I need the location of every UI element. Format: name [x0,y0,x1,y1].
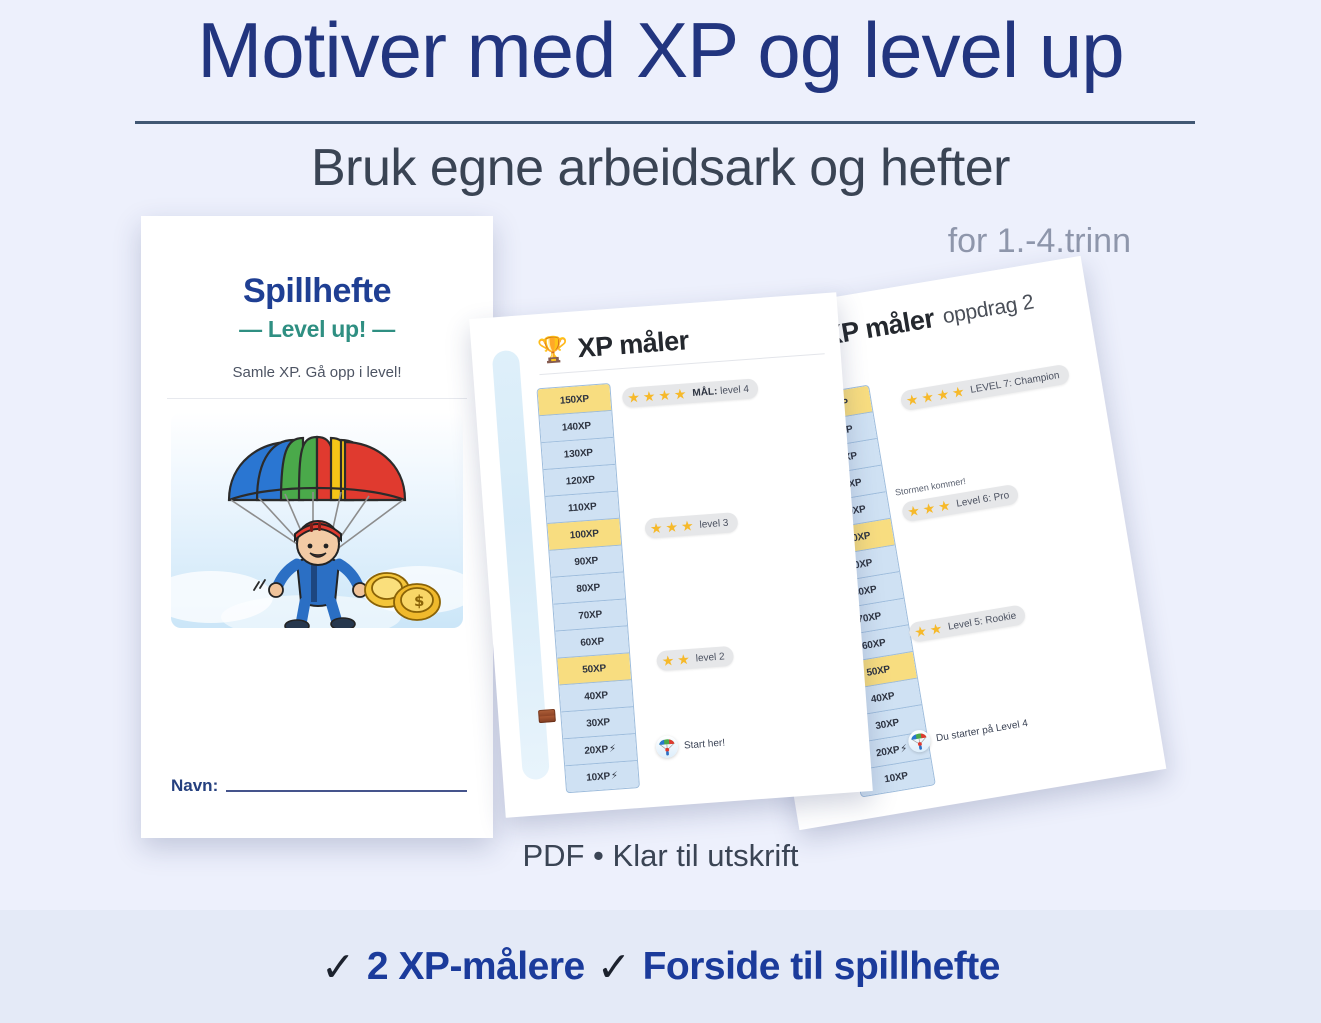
parachute-avatar-icon [655,735,679,759]
name-input-line[interactable] [226,790,467,792]
star-icon: ★ [937,498,952,514]
star-icon: ★ [673,386,687,401]
star-icon: ★ [951,384,966,400]
xp-rung-label: 50XP [582,663,606,676]
star-icon: ★ [913,623,928,639]
start-row: Du starter på Level 4 [907,712,1030,754]
star-icon: ★ [906,503,921,519]
lightning-bolt-icon: ⚡ [900,743,909,755]
star-icon: ★ [905,392,920,408]
xp-meter-sheet-1[interactable]: 🏆 XP måler 150XP140XP130XP120XP110XP100X… [469,292,873,818]
star-icon: ★ [920,389,935,405]
xp-rung-label: 30XP [875,717,900,732]
star-icon: ★ [642,389,656,404]
level-badge: ★★★★MÅL: level 4 [622,378,759,408]
star-icon: ★ [665,519,679,534]
xp-rung-label: 60XP [861,637,886,652]
star-icon: ★ [658,388,672,403]
start-text: Du starter på Level 4 [935,718,1028,744]
xp-rung-label: 110XP [568,501,597,514]
lightning-bolt-icon: ⚡ [609,743,617,754]
start-row: Start her! [655,732,726,759]
page-title: Motiver med XP og level up [0,10,1321,92]
level-badge: ★★★level 3 [644,512,738,539]
check-icon: ✓ [597,943,631,991]
cover-divider [167,398,467,399]
star-icon: ★ [627,390,641,405]
svg-text:$: $ [414,592,424,610]
xp-rung-label: 10XP [884,770,909,785]
pdf-note: PDF • Klar til utskrift [0,838,1321,874]
xp-rung-label: 150XP [559,393,589,406]
xp-rung-label: 10XP [586,771,610,784]
trophy-icon: 🏆 [537,337,570,364]
star-icon: ★ [936,387,951,403]
name-label: Navn: [171,776,218,796]
star-icon: ★ [677,652,691,667]
cover-title: Spillhefte [141,272,493,311]
start-text: Start her! [684,737,726,751]
lightning-bolt-icon: ⚡ [611,770,619,781]
xp-rung-label: 60XP [580,636,604,649]
sheet1-header: 🏆 XP måler [537,315,825,367]
poster-canvas: Motiver med XP og level up Bruk egne arb… [0,0,1321,1023]
level-badge-label: level 3 [699,517,729,530]
level-badge-label: LEVEL 7: Champion [969,370,1060,396]
title-divider [135,121,1195,124]
level-badge-label: level 2 [695,651,725,664]
sheet1-title: XP måler [577,325,690,364]
xp-rung-label: 130XP [563,447,593,460]
star-icon: ★ [929,621,944,637]
feature-bar: ✓ 2 XP-målere ✓ Forside til spillhefte [0,910,1321,1023]
level-badge: ★★Level 5: Rookie [908,604,1027,643]
level-badge-label: MÅL: level 4 [692,383,749,398]
feature-1-label: 2 XP-målere [367,945,585,989]
xp-rung-label: 90XP [574,555,598,568]
sheet2-title-suffix: oppdrag 2 [941,290,1036,329]
xp-rung-label: 40XP [870,690,895,705]
xp-rung-label: 140XP [561,420,591,433]
level-badge-label: Level 6: Pro [956,490,1010,510]
star-icon: ★ [649,521,663,536]
grade-label: for 1.-4.trinn [948,222,1131,261]
treasure-chest-icon [538,709,556,723]
cover-subtitle: — Level up! — [141,316,493,343]
name-field-row[interactable]: Navn: [171,776,467,796]
feature-2-label: Forside til spillhefte [643,945,1000,989]
xp-rung-label: 30XP [586,716,610,729]
star-icon: ★ [661,653,675,668]
xp-rung-label: 50XP [866,664,891,679]
xp-rung-label: 40XP [584,690,608,703]
parachute-avatar-icon [907,728,932,753]
xp-rung-label: 70XP [578,609,602,622]
page-subtitle: Bruk egne arbeidsark og hefter [0,140,1321,197]
level-badge-label: Level 5: Rookie [947,610,1017,632]
xp-rung[interactable]: 10XP⚡ [565,761,639,792]
xp-rung-label: 20XP [584,744,608,757]
xp-rung-label: 120XP [565,474,595,487]
xp-rung-label: 100XP [569,528,599,541]
xp-rung-label: 80XP [576,582,600,595]
xp-rung-label: 20XP [875,744,900,759]
level-badge: ★★★★LEVEL 7: Champion [899,364,1069,412]
cover-sheet[interactable]: Spillhefte — Level up! — Samle XP. Gå op… [141,216,493,838]
parachute-kid-with-coins-icon: $ [171,412,463,628]
star-icon: ★ [922,500,937,516]
xp-ladder[interactable]: 150XP140XP130XP120XP110XP100XP90XP80XP70… [536,383,640,793]
check-icon: ✓ [321,943,355,991]
cover-tagline: Samle XP. Gå opp i level! [141,364,493,381]
level-badge: ★★level 2 [656,646,734,672]
star-icon: ★ [681,518,695,533]
